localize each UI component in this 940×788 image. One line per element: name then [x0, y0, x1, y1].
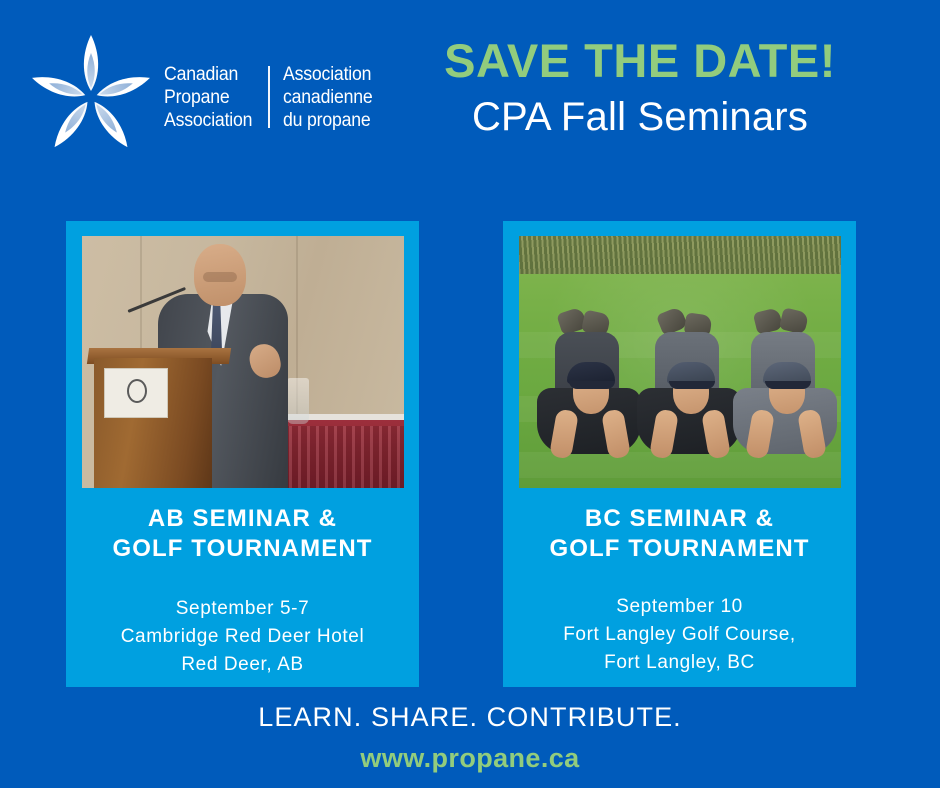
card-city-ab: Red Deer, AB — [72, 651, 413, 679]
seminar-card-ab: AB SEMINAR & GOLF TOURNAMENT September 5… — [66, 221, 419, 687]
card-city-bc: Fort Langley, BC — [509, 649, 850, 677]
card-heading-ab-line-2: GOLF TOURNAMENT — [72, 534, 413, 564]
card-date-bc: September 10 — [509, 593, 850, 621]
cpa-logo-fr-line-3: du propane — [283, 109, 373, 132]
seminar-card-bc: BC SEMINAR & GOLF TOURNAMENT September 1… — [503, 221, 856, 687]
card-heading-bc-line-1: BC SEMINAR & — [509, 504, 850, 534]
cpa-logo-en-line-1: Canadian — [164, 63, 252, 86]
card-details-ab: September 5-7 Cambridge Red Deer Hotel R… — [72, 595, 413, 679]
cpa-logo-fr-line-2: canadienne — [283, 86, 373, 109]
cpa-logo-fr-line-1: Association — [283, 63, 373, 86]
footer-tagline: LEARN. SHARE. CONTRIBUTE. — [0, 700, 940, 734]
card-venue-bc: Fort Langley Golf Course, — [509, 621, 850, 649]
card-heading-ab-line-1: AB SEMINAR & — [72, 504, 413, 534]
cpa-logo-english: Canadian Propane Association — [164, 63, 252, 132]
cpa-logo-en-line-3: Association — [164, 109, 252, 132]
cpa-logo-en-line-2: Propane — [164, 86, 252, 109]
speaker-at-podium-photo — [82, 236, 404, 488]
cpa-logo-french: Association canadienne du propane — [283, 63, 373, 132]
footer-website-url[interactable]: www.propane.ca — [0, 740, 940, 776]
three-golfers-on-grass-photo — [519, 236, 841, 488]
cpa-logo: Canadian Propane Association Association… — [22, 24, 352, 164]
card-heading-ab: AB SEMINAR & GOLF TOURNAMENT — [72, 504, 413, 564]
cpa-flower-logo-icon — [22, 25, 160, 163]
cpa-logo-wordmark: Canadian Propane Association Association… — [164, 63, 379, 132]
card-venue-ab: Cambridge Red Deer Hotel — [72, 623, 413, 651]
poster-footer: LEARN. SHARE. CONTRIBUTE. www.propane.ca — [0, 700, 940, 776]
card-details-bc: September 10 Fort Langley Golf Course, F… — [509, 593, 850, 677]
card-heading-bc-line-2: GOLF TOURNAMENT — [509, 534, 850, 564]
poster-title-block: SAVE THE DATE! CPA Fall Seminars — [380, 32, 900, 142]
logo-divider — [268, 66, 270, 128]
card-heading-bc: BC SEMINAR & GOLF TOURNAMENT — [509, 504, 850, 564]
card-date-ab: September 5-7 — [72, 595, 413, 623]
seminar-subtitle: CPA Fall Seminars — [380, 92, 900, 142]
poster-header: Canadian Propane Association Association… — [0, 0, 940, 200]
save-the-date-poster: Canadian Propane Association Association… — [0, 0, 940, 788]
save-the-date-headline: SAVE THE DATE! — [380, 32, 900, 90]
